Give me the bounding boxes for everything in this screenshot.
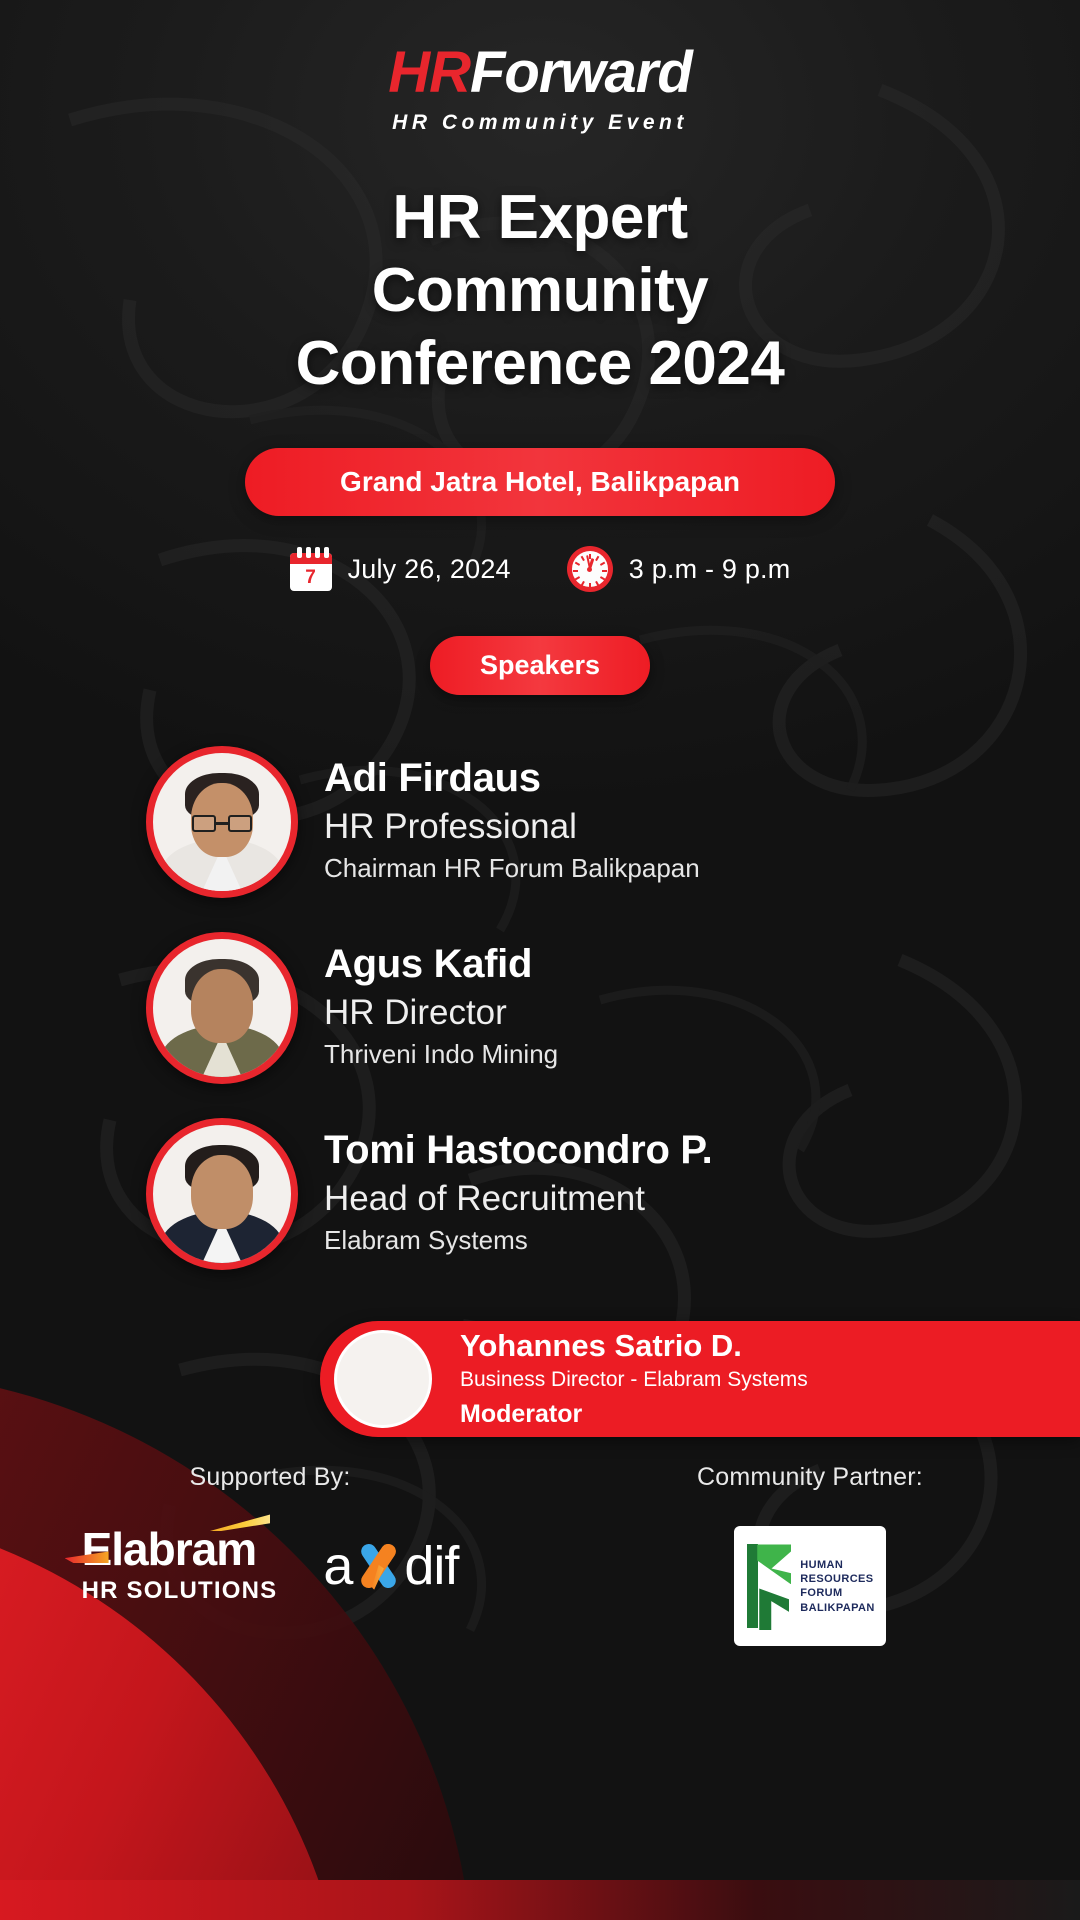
speaker-org: Elabram Systems xyxy=(324,1224,712,1258)
venue-banner: Grand Jatra Hotel, Balikpapan xyxy=(245,448,835,516)
speaker-avatar-2 xyxy=(146,932,298,1084)
clock-icon xyxy=(567,546,613,592)
hrf-line-2: RESOURCES xyxy=(800,1572,874,1586)
speaker-name: Adi Firdaus xyxy=(324,755,700,801)
title-line-1: HR Expert xyxy=(0,181,1080,254)
hrf-line-1: HUMAN xyxy=(800,1558,874,1572)
calendar-icon: 7 xyxy=(290,547,332,591)
speaker-avatar-1 xyxy=(146,746,298,898)
speaker-item: Agus Kafid HR Director Thriveni Indo Min… xyxy=(146,915,1080,1101)
community-partner-column: Community Partner: HUMAN RESOURCES FORUM… xyxy=(540,1463,1080,1646)
moderator-bar: Yohannes Satrio D. Business Director - E… xyxy=(320,1321,1080,1437)
elabram-logo: Elabram HR SOLUTIONS xyxy=(82,1526,278,1605)
footer: Supported By: Elabram HR SOLUTIONS a xyxy=(0,1463,1080,1646)
schedule-row: 7 July 26, 2024 xyxy=(0,546,1080,592)
supported-by-label: Supported By: xyxy=(0,1463,540,1492)
hr-forum-balikpapan-logo: HUMAN RESOURCES FORUM BALIKPAPAN xyxy=(734,1526,886,1646)
speaker-avatar-3 xyxy=(146,1118,298,1270)
event-date: July 26, 2024 xyxy=(348,554,511,585)
hrf-line-3: FORUM xyxy=(800,1586,874,1600)
community-partner-label: Community Partner: xyxy=(540,1463,1080,1492)
elabram-tagline: HR SOLUTIONS xyxy=(82,1577,278,1605)
brand-logo: HRForward HR Community Event xyxy=(0,0,1080,135)
speaker-role: HR Professional xyxy=(324,804,700,850)
date-item: 7 July 26, 2024 xyxy=(290,547,511,591)
page-title: HR Expert Community Conference 2024 xyxy=(0,181,1080,400)
hrf-line-4: BALIKPAPAN xyxy=(800,1601,874,1615)
moderator-name: Yohannes Satrio D. xyxy=(460,1328,808,1364)
moderator-tag: Moderator xyxy=(460,1398,808,1431)
moderator-role: Business Director - Elabram Systems xyxy=(460,1366,808,1394)
logo-tagline: HR Community Event xyxy=(0,111,1080,135)
event-poster: HRForward HR Community Event HR Expert C… xyxy=(0,0,1080,1920)
axdif-wordmark-dif: dif xyxy=(404,1539,458,1593)
supported-by-column: Supported By: Elabram HR SOLUTIONS a xyxy=(0,1463,540,1646)
speaker-name: Agus Kafid xyxy=(324,941,558,987)
time-item: 3 p.m - 9 p.m xyxy=(567,546,791,592)
logo-forward-text: Forward xyxy=(470,40,692,105)
speakers-badge: Speakers xyxy=(430,636,650,695)
speaker-name: Tomi Hastocondro P. xyxy=(324,1127,712,1173)
speaker-org: Thriveni Indo Mining xyxy=(324,1038,558,1072)
speaker-role: Head of Recruitment xyxy=(324,1176,712,1222)
event-time: 3 p.m - 9 p.m xyxy=(629,554,791,585)
speaker-item: Adi Firdaus HR Professional Chairman HR … xyxy=(146,729,1080,915)
title-line-3: Conference 2024 xyxy=(0,327,1080,400)
speaker-item: Tomi Hastocondro P. Head of Recruitment … xyxy=(146,1101,1080,1287)
speaker-role: HR Director xyxy=(324,990,558,1036)
axdif-logo: a dif xyxy=(323,1539,458,1593)
elabram-wordmark: Elabram xyxy=(82,1523,257,1575)
title-line-2: Community xyxy=(0,254,1080,327)
moderator-avatar xyxy=(334,1330,432,1428)
calendar-day-number: 7 xyxy=(290,564,332,591)
decorative-bottom-strip xyxy=(0,1880,1080,1920)
speakers-list: Adi Firdaus HR Professional Chairman HR … xyxy=(0,729,1080,1287)
axdif-x-icon xyxy=(353,1540,403,1592)
speaker-org: Chairman HR Forum Balikpapan xyxy=(324,852,700,886)
hrf-leaf-icon xyxy=(745,1540,793,1632)
logo-hr-text: HR xyxy=(388,40,470,105)
axdif-wordmark-a: a xyxy=(323,1539,352,1593)
